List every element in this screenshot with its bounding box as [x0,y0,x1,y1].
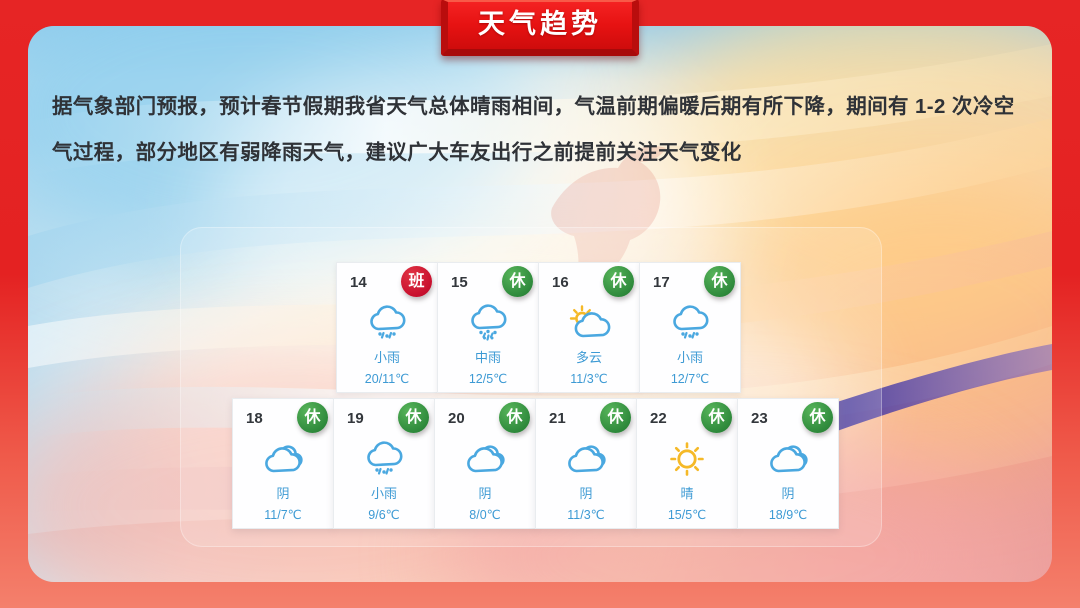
overcast-icon [536,435,636,483]
day-number: 14 [350,275,367,290]
forecast-card[interactable]: 23 休 阴 18/9℃ [737,398,839,529]
condition-label: 晴 [637,487,737,500]
forecast-card[interactable]: 19 休 小雨 9/6℃ [333,398,435,529]
condition-label: 阴 [435,487,535,500]
light-rain-icon [337,299,437,347]
temperature-label: 9/6℃ [334,509,434,522]
forecast-card[interactable]: 14 班 小雨 20/11℃ [336,262,438,393]
forecast-card[interactable]: 15 休 中雨 12/ [437,262,539,393]
rest-badge: 休 [499,402,530,433]
moderate-rain-icon [438,299,538,347]
page-title: 天气趋势 [478,11,602,38]
day-number: 20 [448,411,465,426]
temperature-label: 11/3℃ [536,509,636,522]
rest-badge: 休 [502,266,533,297]
condition-label: 阴 [233,487,333,500]
forecast-card[interactable]: 22 休 [636,398,738,529]
work-badge: 班 [401,266,432,297]
condition-label: 小雨 [334,487,434,500]
condition-label: 小雨 [640,351,740,364]
temperature-label: 12/7℃ [640,373,740,386]
forecast-card[interactable]: 17 休 小雨 12/7℃ [639,262,741,393]
condition-label: 阴 [738,487,838,500]
forecast-row-first: 14 班 小雨 20/11℃ [336,262,741,393]
forecast-card[interactable]: 18 休 阴 11/7℃ [232,398,334,529]
rest-badge: 休 [603,266,634,297]
day-number: 17 [653,275,670,290]
forecast-row-second: 18 休 阴 11/7℃ 19 休 [232,398,839,529]
temperature-label: 15/5℃ [637,509,737,522]
forecast-card[interactable]: 20 休 阴 8/0℃ [434,398,536,529]
day-number: 16 [552,275,569,290]
day-number: 21 [549,411,566,426]
rest-badge: 休 [704,266,735,297]
overcast-icon [233,435,333,483]
condition-label: 中雨 [438,351,538,364]
partly-cloudy-icon [539,299,639,347]
day-number: 18 [246,411,263,426]
rest-badge: 休 [297,402,328,433]
day-number: 19 [347,411,364,426]
day-number: 22 [650,411,667,426]
intro-paragraph: 据气象部门预报，预计春节假期我省天气总体晴雨相间，气温前期偏暖后期有所下降，期间… [52,84,1027,176]
title-plaque: 天气趋势 [441,0,639,56]
temperature-label: 18/9℃ [738,509,838,522]
forecast-card[interactable]: 16 休 多云 1 [538,262,640,393]
temperature-label: 11/3℃ [539,373,639,386]
condition-label: 阴 [536,487,636,500]
condition-label: 小雨 [337,351,437,364]
rest-badge: 休 [701,402,732,433]
overcast-icon [738,435,838,483]
day-number: 15 [451,275,468,290]
rest-badge: 休 [398,402,429,433]
rest-badge: 休 [802,402,833,433]
temperature-label: 11/7℃ [233,509,333,522]
light-rain-icon [640,299,740,347]
temperature-label: 8/0℃ [435,509,535,522]
overcast-icon [435,435,535,483]
poster: 天气趋势 据气象部门预报，预计春节假期我省天气总体晴雨相间，气温前期偏暖后期有所… [0,0,1080,608]
temperature-label: 12/5℃ [438,373,538,386]
title-banner: 天气趋势 [0,0,1080,62]
light-rain-icon [334,435,434,483]
sunny-icon [637,435,737,483]
temperature-label: 20/11℃ [337,373,437,386]
forecast-card[interactable]: 21 休 阴 11/3℃ [535,398,637,529]
condition-label: 多云 [539,351,639,364]
rest-badge: 休 [600,402,631,433]
day-number: 23 [751,411,768,426]
